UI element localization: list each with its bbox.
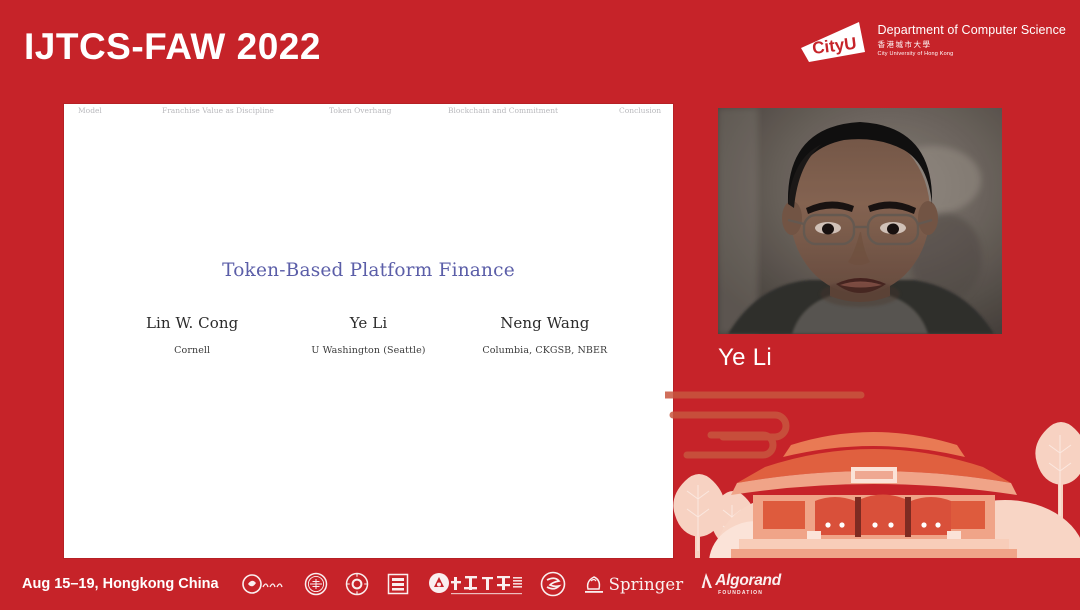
presentation-stage: IJTCS-FAW 2022 CityU Department of Compu… [0,0,1080,610]
slide-section-nav: Model Franchise Value as Discipline Toke… [64,104,673,122]
author-name: Neng Wang [457,314,633,332]
speaker-name-label: Ye Li [718,344,772,372]
institute-square-logo-icon[interactable] [386,572,410,596]
speaker-video-tile[interactable] [718,108,1002,334]
cityu-logo: CityU Department of Computer Science 香港城… [799,18,1066,66]
author-name: Ye Li [280,314,456,332]
science-press-logo-icon[interactable] [540,571,566,597]
presentation-slide[interactable]: Model Franchise Value as Discipline Toke… [64,104,673,558]
conference-title: IJTCS-FAW 2022 [24,26,321,68]
springer-label: Springer [609,575,684,594]
author-affiliation: U Washington (Seattle) [280,345,456,356]
author-entry: Lin W. Cong Cornell [104,314,280,356]
author-entry: Neng Wang Columbia, CKGSB, NBER [457,314,633,356]
event-date-location: Aug 15–19, Hongkong China [22,576,219,592]
springer-logo-icon[interactable]: Springer [583,572,684,596]
speaker-webcam-image [718,108,1002,334]
nav-item-conclusion[interactable]: Conclusion [619,106,661,115]
nav-item-model[interactable]: Model [78,106,102,115]
cityu-english-label: City University of Hong Kong [877,51,1066,57]
algorand-label: Algorand [715,573,781,589]
algorand-sublabel: FOUNDATION [700,590,781,596]
pavilion-decoration [665,373,1080,558]
xian-jiaotong-logo-icon[interactable] [241,573,287,595]
cityu-department-label: Department of Computer Science [877,23,1066,38]
sponsor-logo-row: Springer Algorand FOUNDATION [241,571,781,597]
cityu-logo-text: Department of Computer Science 香港城市大學 Ci… [877,18,1066,57]
university-emblem-logo-icon[interactable] [304,572,328,596]
author-name: Lin W. Cong [104,314,280,332]
footer-bar: Aug 15–19, Hongkong China [0,558,1080,610]
nav-item-blockchain[interactable]: Blockchain and Commitment [448,106,558,115]
author-list: Lin W. Cong Cornell Ye Li U Washington (… [104,314,633,356]
nav-item-franchise[interactable]: Franchise Value as Discipline [162,106,274,115]
cityu-mark-icon: CityU [799,18,869,66]
algorand-foundation-logo-icon[interactable]: Algorand FOUNDATION [700,572,781,596]
peking-seal-logo-icon[interactable] [345,572,369,596]
peking-university-logo-icon[interactable] [427,571,523,597]
author-affiliation: Columbia, CKGSB, NBER [457,345,633,356]
author-affiliation: Cornell [104,345,280,356]
cityu-chinese-label: 香港城市大學 [877,41,1066,50]
slide-title: Token-Based Platform Finance [64,260,673,281]
nav-item-overhang[interactable]: Token Overhang [329,106,391,115]
author-entry: Ye Li U Washington (Seattle) [280,314,456,356]
